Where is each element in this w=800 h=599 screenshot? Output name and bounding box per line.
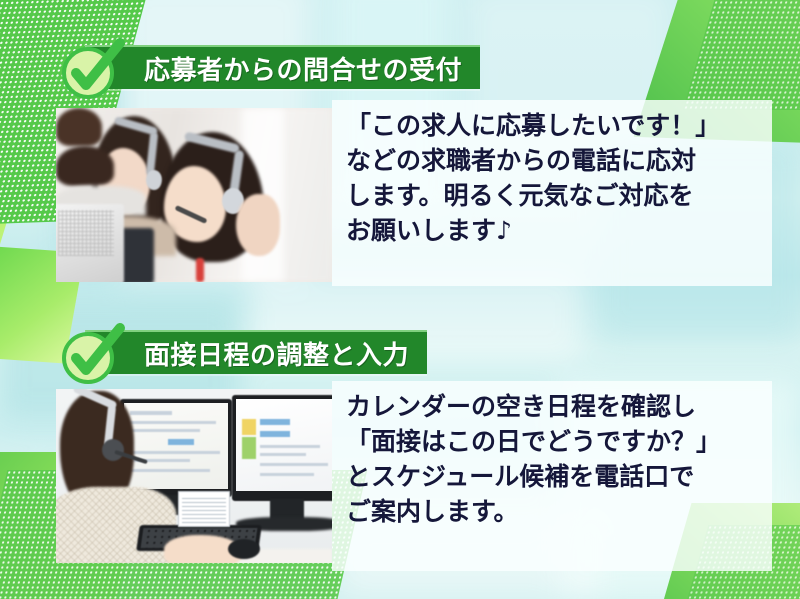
- check-circle-icon: [56, 31, 128, 103]
- section-1-title: 応募者からの問合せの受付: [87, 50, 480, 87]
- section-1-text-panel: 「この求人に応募したいです！」 などの求職者からの電話に応対 します。明るく元気…: [332, 100, 772, 286]
- slide-canvas: 応募者からの問合せの受付 「この求人に応募したいです！」 などの求職者からの電話…: [0, 0, 800, 599]
- section-2-text-panel: カレンダーの空き日程を確認し 「面接はこの日でどうですか？」 とスケジュール候補…: [332, 381, 772, 571]
- call-center-operators-photo: [56, 108, 332, 282]
- check-circle-icon: [56, 316, 128, 388]
- section-2-title: 面接日程の調整と入力: [87, 335, 427, 372]
- section-2-body-text: カレンダーの空き日程を確認し 「面接はこの日でどうですか？」 とスケジュール候補…: [346, 389, 762, 529]
- section-1-body-text: 「この求人に応募したいです！」 などの求職者からの電話に応対 します。明るく元気…: [346, 108, 762, 248]
- section-2-title-banner: 面接日程の調整と入力: [85, 330, 427, 374]
- section-1-title-banner: 応募者からの問合せの受付: [85, 45, 480, 89]
- operator-at-dual-monitors-photo: [56, 389, 332, 563]
